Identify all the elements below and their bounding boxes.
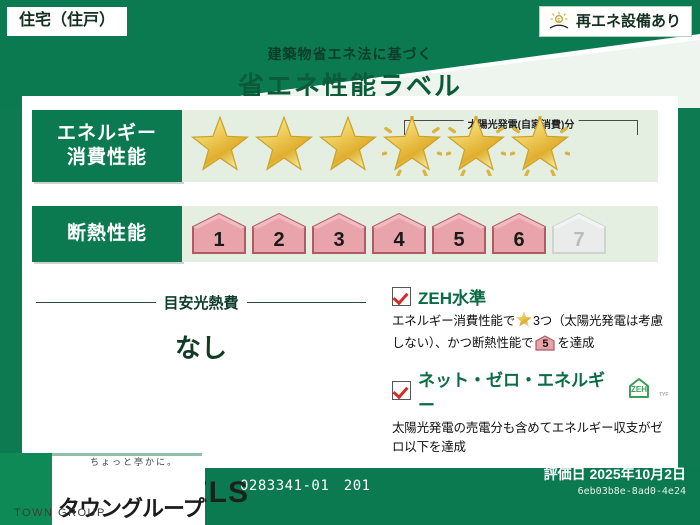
insulation-badge-6: 6	[490, 212, 548, 256]
insulation-level-number: 4	[370, 229, 428, 252]
town-group-logo: ちょっと亭かに。 タウングループ TOWN GROUP	[0, 453, 205, 525]
zeh-description: 太陽光発電の売電分も含めてエネルギー収支がゼロ以下を達成	[392, 419, 668, 458]
cost-divider-right	[247, 302, 367, 303]
utility-cost-title: 目安光熱費	[164, 292, 239, 313]
insulation-level-number: 1	[190, 229, 248, 252]
footer-bar: 0283341-01 201 評価日 2025年10月2日 6eb03b8e-8…	[0, 468, 700, 525]
insulation-badge-2: 2	[250, 212, 308, 256]
insulation-level-number: 7	[550, 229, 608, 252]
star-icon	[254, 116, 314, 176]
star-icon	[446, 116, 506, 176]
energy-performance-row: エネルギー 消費性能 太陽光発電(自家消費)分	[32, 110, 658, 182]
zeh-heading: ネット・ゼロ・エネルギー ZEH TYPE	[392, 366, 668, 416]
insulation-level-number: 5	[430, 229, 488, 252]
insulation-level-number: 2	[250, 229, 308, 252]
zeh-criteria-block: ZEH水準 エネルギー消費性能で 3つ（太陽光発電は考慮しない）、かつ断熱性能で…	[392, 284, 668, 470]
check-icon	[392, 287, 411, 306]
utility-cost-value: なし	[36, 328, 366, 365]
sun-icon: E	[548, 11, 570, 31]
star-filled	[188, 113, 252, 179]
energy-label-line1: エネルギー	[57, 122, 157, 146]
insulation-label-text: 断熱性能	[67, 222, 147, 246]
evaluation-hash: 6eb03b8e-8ad0-4e24	[544, 486, 686, 497]
zeh-desc-part3: を達成	[557, 336, 594, 350]
energy-row-label: エネルギー 消費性能	[32, 110, 182, 182]
zeh-description: エネルギー消費性能で 3つ（太陽光発電は考慮しない）、かつ断熱性能で 5を達成	[392, 312, 668, 354]
star-icon	[516, 312, 532, 328]
insulation-badge-1: 1	[190, 212, 248, 256]
evaluation-date: 評価日 2025年10月2日	[544, 464, 686, 484]
cost-divider-left	[36, 302, 156, 303]
insulation-badge-5: 5	[430, 212, 488, 256]
logo-sub-name: TOWN GROUP	[14, 507, 106, 519]
utility-cost-header: 目安光熱費	[36, 292, 366, 313]
zeh-house-logo: ZEH TYPE	[626, 377, 668, 404]
star-solar	[508, 113, 572, 179]
renewable-badge-label: 再エネ設備あり	[576, 14, 681, 29]
zeh-desc-part1: 太陽光発電の売電分も含めてエネルギー収支がゼロ以下を達成	[392, 421, 663, 454]
renewable-equipment-badge: E 再エネ設備あり	[539, 6, 692, 37]
main-panel: エネルギー 消費性能 太陽光発電(自家消費)分	[22, 96, 678, 468]
insulation-row-body: 1 2 3 4 5 6 7	[182, 206, 658, 262]
insulation-level-number: 6	[490, 229, 548, 252]
check-icon	[392, 381, 411, 400]
star-filled	[252, 113, 316, 179]
insulation-badge-7: 7	[550, 212, 608, 256]
svg-text:TYPE: TYPE	[659, 392, 668, 398]
zeh-heading: ZEH水準	[392, 284, 668, 309]
insulation-badge-4: 4	[370, 212, 428, 256]
insulation-level-number: 3	[310, 229, 368, 252]
insulation-scale: 1 2 3 4 5 6 7	[182, 206, 658, 262]
zeh-title: ネット・ゼロ・エネルギー	[418, 366, 615, 416]
building-id: 0283341-01 201	[240, 475, 371, 495]
svg-text:ZEH: ZEH	[631, 385, 647, 394]
inline-insulation-badge: 5	[535, 335, 555, 351]
star-icon	[382, 116, 442, 176]
insulation-row-label: 断熱性能	[32, 206, 182, 262]
label-title: 建築物省エネ法に基づく 省エネ性能ラベル	[0, 44, 700, 103]
svg-text:E: E	[557, 18, 561, 24]
star-icon	[318, 116, 378, 176]
star-solar	[380, 113, 444, 179]
star-solar	[444, 113, 508, 179]
zeh-item-1: ネット・ゼロ・エネルギー ZEH TYPE 太陽光発電の売電分も含めてエネルギー…	[392, 366, 668, 458]
evaluation-info: 評価日 2025年10月2日 6eb03b8e-8ad0-4e24	[544, 464, 686, 497]
energy-label-line2: 消費性能	[67, 146, 147, 170]
house-type-tag: 住宅（住戸）	[6, 6, 128, 37]
inline-star-icon	[516, 312, 532, 334]
energy-performance-label: 住宅（住戸） E 再エネ設備あり 建築物省エネ法に基づく 省エネ性能ラベル エ	[0, 0, 700, 525]
zeh-desc-part1: エネルギー消費性能で	[392, 314, 515, 328]
logo-ruby: ちょっと亭かに。	[90, 455, 178, 468]
energy-row-body: 太陽光発電(自家消費)分	[182, 110, 658, 182]
insulation-performance-row: 断熱性能 1 2 3 4 5 6	[32, 206, 658, 262]
star-icon	[190, 116, 250, 176]
title-subtitle: 建築物省エネ法に基づく	[0, 44, 700, 64]
star-filled	[316, 113, 380, 179]
zeh-title: ZEH水準	[418, 284, 486, 309]
star-icon	[510, 116, 570, 176]
zeh-item-0: ZEH水準 エネルギー消費性能で 3つ（太陽光発電は考慮しない）、かつ断熱性能で…	[392, 284, 668, 354]
insulation-badge-3: 3	[310, 212, 368, 256]
